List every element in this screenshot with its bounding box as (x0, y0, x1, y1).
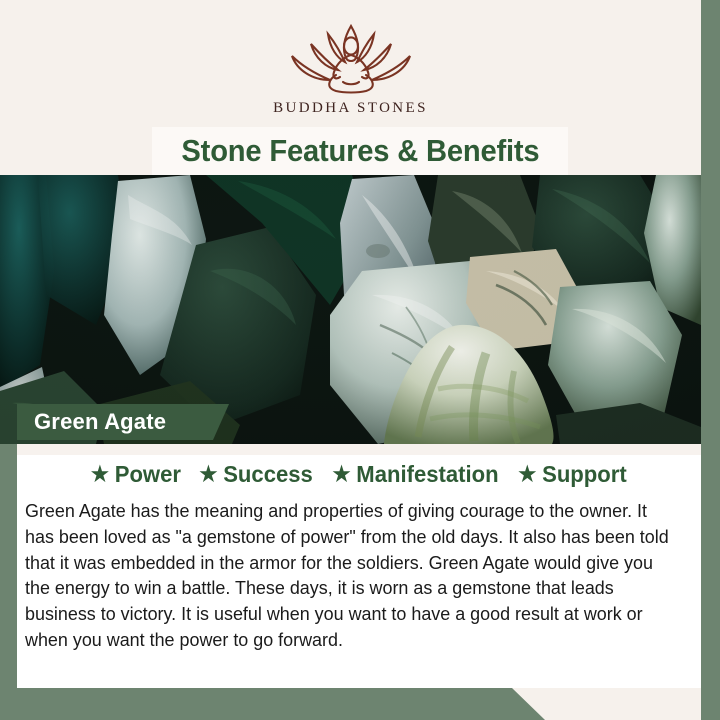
keyword-power: ★ Power (91, 461, 181, 488)
brand-name: BUDDHA STONES (273, 100, 428, 117)
header: BUDDHA STONES Stone Features & Benefits (0, 0, 701, 175)
star-icon: ★ (332, 464, 350, 485)
content-panel: ★ Power ★ Success ★ Manifestation ★ Supp… (17, 444, 701, 688)
stone-name-banner: Green Agate (17, 404, 229, 440)
right-green-frame (701, 0, 720, 720)
brand-logo: BUDDHA STONES (0, 22, 701, 117)
star-icon: ★ (91, 464, 109, 485)
stone-name: Green Agate (34, 409, 166, 435)
panel-top-strip (17, 444, 701, 455)
keyword-label: Success (223, 461, 313, 488)
keyword-label: Support (542, 461, 627, 488)
left-green-frame (0, 404, 17, 720)
keyword-manifestation: ★ Manifestation (332, 461, 498, 488)
bottom-green-frame (0, 688, 720, 720)
keyword-support: ★ Support (518, 461, 626, 488)
keyword-label: Power (115, 461, 181, 488)
stone-description: Green Agate has the meaning and properti… (25, 498, 680, 653)
stone-photo-art (0, 175, 701, 444)
stone-photo (0, 175, 701, 444)
page-title: Stone Features & Benefits (181, 133, 539, 169)
star-icon: ★ (518, 464, 536, 485)
keyword-success: ★ Success (199, 461, 312, 488)
lotus-meditation-icon (266, 22, 436, 96)
page-title-box: Stone Features & Benefits (152, 127, 568, 175)
keyword-label: Manifestation (356, 461, 498, 488)
star-icon: ★ (199, 464, 217, 485)
keyword-list: ★ Power ★ Success ★ Manifestation ★ Supp… (17, 461, 701, 488)
stone-info-card: BUDDHA STONES Stone Features & Benefits (0, 0, 720, 720)
